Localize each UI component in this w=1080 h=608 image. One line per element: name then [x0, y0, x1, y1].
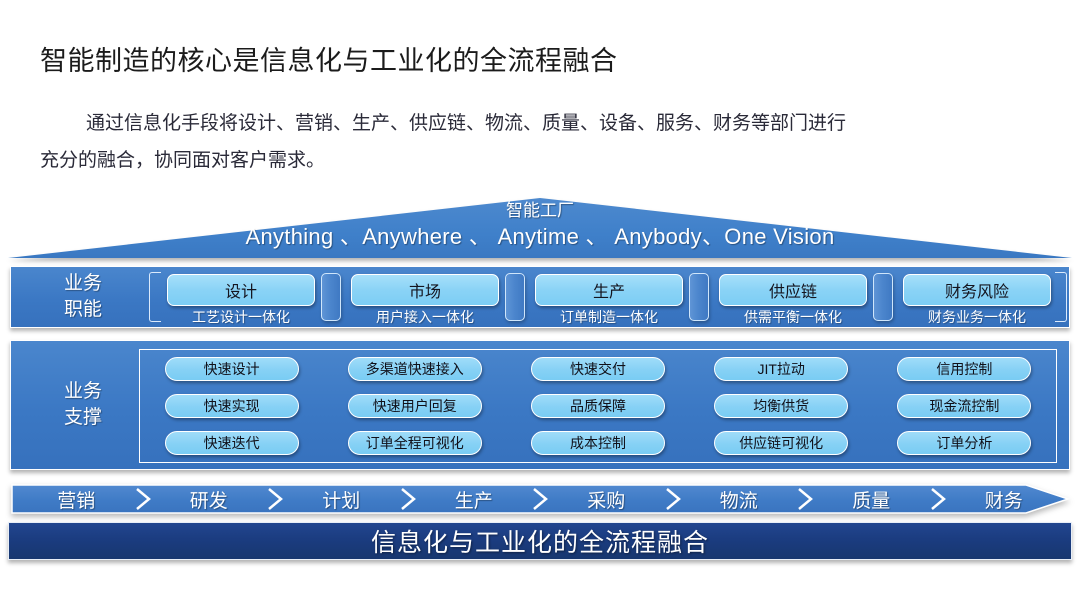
- smart-factory-diagram: 智能工厂 Anything 、Anywhere 、 Anytime 、 Anyb…: [0, 196, 1080, 586]
- support-box[interactable]: 快速用户回复: [348, 394, 482, 418]
- support-box[interactable]: JIT拉动: [714, 357, 848, 381]
- support-box[interactable]: 均衡供货: [714, 394, 848, 418]
- process-step-rnd[interactable]: 研发: [143, 486, 276, 513]
- process-step-marketing[interactable]: 营销: [10, 486, 143, 513]
- process-steps: 营销 研发 计划 生产 采购 物流: [10, 482, 1070, 516]
- support-box[interactable]: 快速实现: [165, 394, 299, 418]
- function-box-market[interactable]: 市场: [351, 274, 499, 306]
- process-step-finance[interactable]: 财务: [938, 486, 1071, 513]
- process-step-label: 财务: [985, 486, 1023, 513]
- function-cell-market[interactable]: 市场 用户接入一体化: [333, 267, 517, 327]
- description-line-2: 充分的融合，协同面对客户需求。: [40, 142, 1050, 179]
- support-box[interactable]: 多渠道快速接入: [348, 357, 482, 381]
- support-box[interactable]: 快速交付: [531, 357, 665, 381]
- business-function-label: 业务 职能: [29, 271, 137, 323]
- business-function-label-line2: 职能: [29, 297, 137, 323]
- bottom-banner-text: 信息化与工业化的全流程融合: [371, 523, 709, 559]
- function-sub-finance-risk: 财务业务一体化: [885, 309, 1069, 325]
- function-box-finance-risk[interactable]: 财务风险: [903, 274, 1051, 306]
- process-step-procurement[interactable]: 采购: [540, 486, 673, 513]
- function-sub-design: 工艺设计一体化: [149, 309, 333, 325]
- support-box[interactable]: 供应链可视化: [714, 431, 848, 455]
- process-arrow-bar: 营销 研发 计划 生产 采购 物流: [10, 482, 1070, 516]
- roof-triangle: 智能工厂 Anything 、Anywhere 、 Anytime 、 Anyb…: [6, 196, 1074, 262]
- support-box[interactable]: 快速迭代: [165, 431, 299, 455]
- page-description: 通过信息化手段将设计、营销、生产、供应链、物流、质量、设备、服务、财务等部门进行…: [40, 105, 1050, 179]
- page-title: 智能制造的核心是信息化与工业化的全流程融合: [40, 44, 1040, 78]
- process-step-quality[interactable]: 质量: [805, 486, 938, 513]
- business-support-label-line2: 支撑: [29, 405, 137, 431]
- function-box-supply-chain[interactable]: 供应链: [719, 274, 867, 306]
- business-support-panel: 快速设计 多渠道快速接入 快速交付 JIT拉动 信用控制 快速实现 快速用户回复…: [139, 349, 1057, 463]
- function-cell-supply-chain[interactable]: 供应链 供需平衡一体化: [701, 267, 885, 327]
- support-box[interactable]: 成本控制: [531, 431, 665, 455]
- function-cell-production[interactable]: 生产 订单制造一体化: [517, 267, 701, 327]
- process-step-label: 生产: [455, 486, 493, 513]
- support-box[interactable]: 订单分析: [897, 431, 1031, 455]
- support-box[interactable]: 品质保障: [531, 394, 665, 418]
- business-support-label-line1: 业务: [29, 379, 137, 405]
- support-box[interactable]: 订单全程可视化: [348, 431, 482, 455]
- function-sub-production: 订单制造一体化: [517, 309, 701, 325]
- function-box-design[interactable]: 设计: [167, 274, 315, 306]
- process-step-logistics[interactable]: 物流: [673, 486, 806, 513]
- process-step-label: 计划: [322, 486, 360, 513]
- support-box[interactable]: 快速设计: [165, 357, 299, 381]
- business-function-label-line1: 业务: [29, 271, 137, 297]
- support-box[interactable]: 现金流控制: [897, 394, 1031, 418]
- description-line-1: 通过信息化手段将设计、营销、生产、供应链、物流、质量、设备、服务、财务等部门进行: [40, 105, 1050, 142]
- process-step-plan[interactable]: 计划: [275, 486, 408, 513]
- function-cell-finance-risk[interactable]: 财务风险 财务业务一体化: [885, 267, 1069, 327]
- business-support-grid: 快速设计 多渠道快速接入 快速交付 JIT拉动 信用控制 快速实现 快速用户回复…: [140, 350, 1056, 462]
- process-step-label: 营销: [57, 486, 95, 513]
- support-box[interactable]: 信用控制: [897, 357, 1031, 381]
- process-step-production[interactable]: 生产: [408, 486, 541, 513]
- function-sub-market: 用户接入一体化: [333, 309, 517, 325]
- roof-shape-svg: [6, 196, 1074, 262]
- process-step-label: 物流: [720, 486, 758, 513]
- description-line-1-text: 通过信息化手段将设计、营销、生产、供应链、物流、质量、设备、服务、财务等部门进行: [86, 113, 846, 134]
- function-cell-design[interactable]: 设计 工艺设计一体化: [149, 267, 333, 327]
- business-support-row: 业务 支撑 快速设计 多渠道快速接入 快速交付 JIT拉动 信用控制 快速实现 …: [10, 340, 1070, 470]
- business-function-row: 业务 职能 设计 工艺设计一体化 市场 用户接入一体化 生产 订单制造一体化: [10, 266, 1070, 328]
- process-step-label: 质量: [852, 486, 890, 513]
- business-support-label: 业务 支撑: [29, 379, 137, 431]
- bottom-banner: 信息化与工业化的全流程融合: [8, 522, 1072, 560]
- business-function-items: 设计 工艺设计一体化 市场 用户接入一体化 生产 订单制造一体化 供应链 供需平…: [149, 267, 1067, 327]
- function-sub-supply-chain: 供需平衡一体化: [701, 309, 885, 325]
- process-step-label: 研发: [190, 486, 228, 513]
- function-box-production[interactable]: 生产: [535, 274, 683, 306]
- process-step-label: 采购: [587, 486, 625, 513]
